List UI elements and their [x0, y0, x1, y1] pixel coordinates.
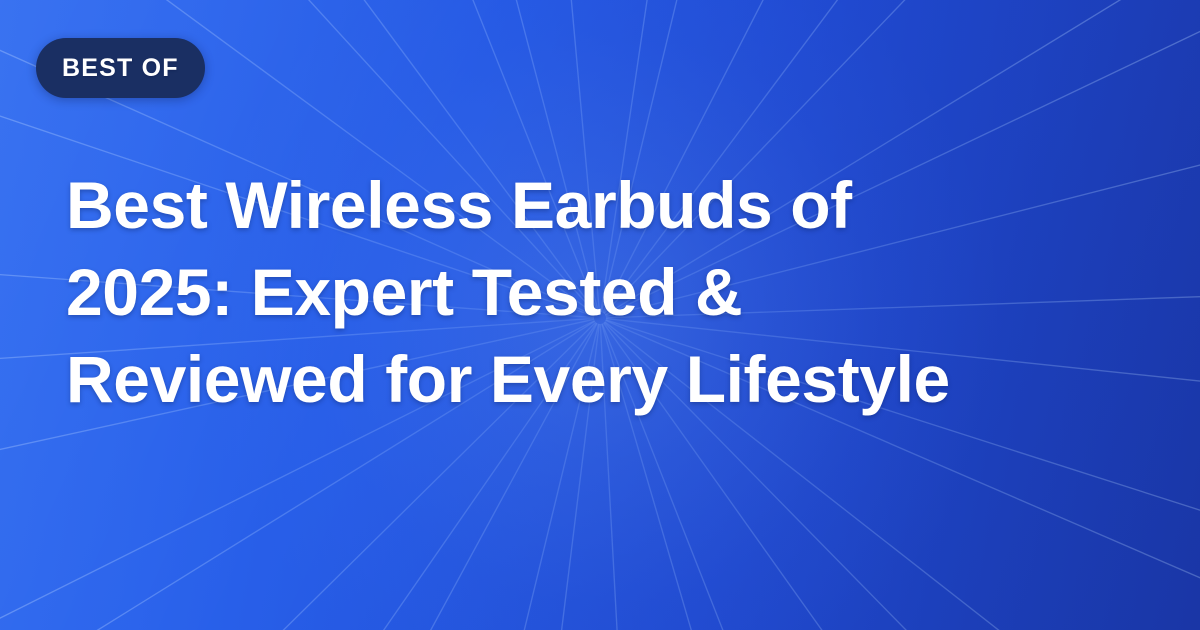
best-of-badge: BEST OF: [36, 38, 205, 98]
og-card: BEST OF Best Wireless Earbuds of 2025: E…: [0, 0, 1200, 630]
page-title: Best Wireless Earbuds of 2025: Expert Te…: [66, 162, 1156, 423]
headline-line-1: Best Wireless Earbuds of: [66, 162, 1156, 249]
headline-line-2: 2025: Expert Tested &: [66, 249, 1156, 336]
badge-label: BEST OF: [62, 56, 179, 81]
headline-line-3: Reviewed for Every Lifestyle: [66, 336, 1156, 423]
card-content: BEST OF Best Wireless Earbuds of 2025: E…: [0, 0, 1200, 630]
